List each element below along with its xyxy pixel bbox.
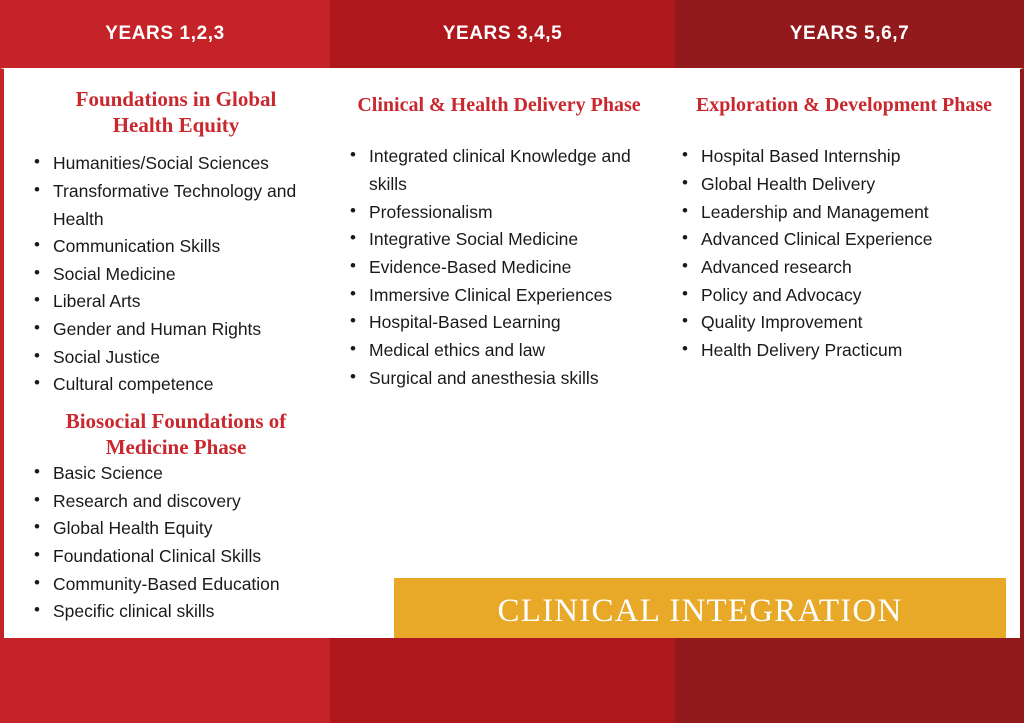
list-item: Quality Improvement bbox=[678, 309, 1010, 337]
list-item: Hospital-Based Learning bbox=[346, 309, 652, 337]
list-item: Advanced research bbox=[678, 254, 1010, 282]
list-exploration-development: Hospital Based Internship Global Health … bbox=[678, 143, 1010, 364]
list-foundations-global-health-equity: Humanities/Social Sciences Transformativ… bbox=[30, 150, 322, 399]
spacer bbox=[346, 117, 652, 143]
list-clinical-health-delivery: Integrated clinical Knowledge and skills… bbox=[346, 143, 652, 392]
list-item: Integrated clinical Knowledge and skills bbox=[346, 143, 652, 198]
list-item: Basic Science bbox=[30, 460, 322, 488]
list-item: Advanced Clinical Experience bbox=[678, 226, 1010, 254]
year-header-3-label: YEARS 5,6,7 bbox=[790, 23, 910, 45]
list-item: Global Health Delivery bbox=[678, 171, 1010, 199]
content-columns: Foundations in Global Health Equity Huma… bbox=[4, 69, 1020, 639]
footer-band-2 bbox=[330, 638, 675, 723]
list-item: Humanities/Social Sciences bbox=[30, 150, 322, 178]
footer-band-1 bbox=[0, 638, 330, 723]
list-item: Specific clinical skills bbox=[30, 598, 322, 626]
year-header-2: YEARS 3,4,5 bbox=[330, 0, 675, 68]
list-item: Immersive Clinical Experiences bbox=[346, 282, 652, 310]
list-item: Professionalism bbox=[346, 199, 652, 227]
list-item: Social Medicine bbox=[30, 261, 322, 289]
column-years-567: Exploration & Development Phase Hospital… bbox=[664, 69, 1020, 639]
list-item: Evidence-Based Medicine bbox=[346, 254, 652, 282]
curriculum-poster: YEARS 1,2,3 YEARS 3,4,5 YEARS 5,6,7 Foun… bbox=[0, 0, 1024, 723]
spacer bbox=[30, 138, 322, 150]
list-item: Foundational Clinical Skills bbox=[30, 543, 322, 571]
list-item: Liberal Arts bbox=[30, 288, 322, 316]
spacer bbox=[678, 117, 1010, 143]
list-item: Medical ethics and law bbox=[346, 337, 652, 365]
list-item: Transformative Technology and Health bbox=[30, 178, 322, 233]
list-item: Hospital Based Internship bbox=[678, 143, 1010, 171]
list-item: Cultural competence bbox=[30, 371, 322, 399]
list-biosocial-foundations-medicine: Basic Science Research and discovery Glo… bbox=[30, 460, 322, 626]
list-item: Leadership and Management bbox=[678, 199, 1010, 227]
phase-title-foundations-global-health-equity: Foundations in Global Health Equity bbox=[30, 87, 322, 138]
list-item: Research and discovery bbox=[30, 488, 322, 516]
list-item: Integrative Social Medicine bbox=[346, 226, 652, 254]
phase-title-clinical-health-delivery: Clinical & Health Delivery Phase bbox=[346, 93, 652, 117]
list-item: Community-Based Education bbox=[30, 571, 322, 599]
footer-band-3 bbox=[675, 638, 1024, 723]
list-item: Surgical and anesthesia skills bbox=[346, 365, 652, 393]
phase-title-biosocial-foundations-medicine: Biosocial Foundations of Medicine Phase bbox=[30, 409, 322, 460]
column-years-345: Clinical & Health Delivery Phase Integra… bbox=[334, 69, 664, 639]
year-header-row: YEARS 1,2,3 YEARS 3,4,5 YEARS 5,6,7 bbox=[0, 0, 1024, 68]
year-header-1: YEARS 1,2,3 bbox=[0, 0, 330, 68]
list-item: Gender and Human Rights bbox=[30, 316, 322, 344]
clinical-integration-banner: CLINICAL INTEGRATION bbox=[394, 578, 1006, 645]
phase-title-exploration-development: Exploration & Development Phase bbox=[678, 93, 1010, 117]
year-header-2-label: YEARS 3,4,5 bbox=[443, 23, 563, 45]
year-header-1-label: YEARS 1,2,3 bbox=[105, 23, 225, 45]
list-item: Social Justice bbox=[30, 344, 322, 372]
list-item: Policy and Advocacy bbox=[678, 282, 1010, 310]
footer-band-row bbox=[0, 638, 1024, 723]
clinical-integration-label: CLINICAL INTEGRATION bbox=[498, 593, 903, 630]
list-item: Communication Skills bbox=[30, 233, 322, 261]
column-years-123: Foundations in Global Health Equity Huma… bbox=[4, 69, 334, 639]
year-header-3: YEARS 5,6,7 bbox=[675, 0, 1024, 68]
content-panel: Foundations in Global Health Equity Huma… bbox=[0, 68, 1024, 638]
list-item: Global Health Equity bbox=[30, 515, 322, 543]
list-item: Health Delivery Practicum bbox=[678, 337, 1010, 365]
